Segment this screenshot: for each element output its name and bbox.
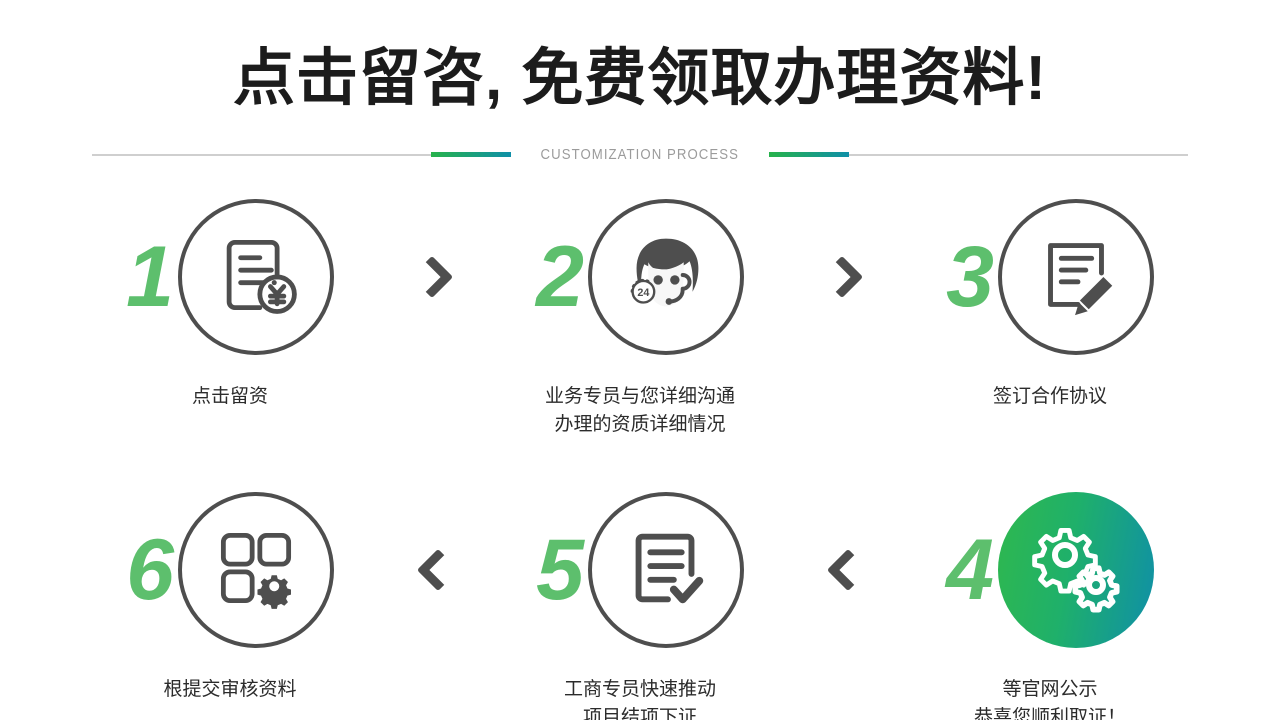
step-5-number: 5: [536, 527, 582, 613]
step-2-circle: 24: [588, 199, 744, 355]
chevron-left-icon-1: [395, 482, 475, 658]
step-1-number: 1: [126, 234, 172, 320]
steps-row-top: 1: [0, 189, 1280, 438]
step-1-label: 点击留资: [192, 383, 268, 411]
step-5-circle: [588, 492, 744, 648]
step-5-visual: 5: [536, 482, 744, 658]
step-3-label: 签订合作协议: [993, 383, 1107, 411]
step-1-visual: 1: [126, 189, 334, 365]
customer-service-agent-icon: 24: [612, 221, 720, 334]
step-3[interactable]: 3: [885, 189, 1215, 411]
step-6-label: 根提交审核资料: [163, 676, 296, 704]
grid-gear-icon: [208, 520, 304, 621]
step-3-circle: [998, 199, 1154, 355]
divider-accent-right: [769, 152, 849, 157]
gears-icon: [1021, 513, 1131, 628]
divider-line-right: [849, 154, 1188, 156]
step-1-circle: [178, 199, 334, 355]
divider-caption: CUSTOMIZATION PROCESS: [527, 146, 754, 163]
step-6-number: 6: [126, 527, 172, 613]
step-1[interactable]: 1: [65, 189, 395, 411]
step-2-visual: 2: [536, 189, 744, 365]
step-4-number: 4: [946, 527, 992, 613]
step-2-badge-text: 24: [637, 287, 649, 299]
steps-container: 1: [0, 189, 1280, 720]
chevron-right-icon-1: [395, 189, 475, 365]
section-divider: CUSTOMIZATION PROCESS: [0, 146, 1280, 163]
process-infographic: 点击留咨, 免费领取办理资料! CUSTOMIZATION PROCESS 1: [0, 0, 1280, 720]
step-3-number: 3: [946, 234, 992, 320]
document-check-icon: [617, 519, 715, 622]
step-2-label: 业务专员与您详细沟通 办理的资质详细情况: [545, 383, 735, 438]
chevron-left-icon-2: [805, 482, 885, 658]
step-6[interactable]: 6: [65, 482, 395, 704]
step-5-label: 工商专员快速推动 项目结项下证: [564, 676, 716, 720]
step-5[interactable]: 5 工商专员快速推动 项目结项下证: [475, 482, 805, 720]
step-2[interactable]: 2: [475, 189, 805, 438]
step-4-circle: [998, 492, 1154, 648]
page-title: 点击留咨, 免费领取办理资料!: [0, 0, 1280, 110]
chevron-right-icon-2: [805, 189, 885, 365]
step-6-circle: [178, 492, 334, 648]
step-6-visual: 6: [126, 482, 334, 658]
document-yen-icon: [208, 227, 304, 328]
divider-accent-left: [431, 152, 511, 157]
step-4[interactable]: 4: [885, 482, 1215, 720]
divider-line-left: [92, 154, 431, 156]
document-pencil-icon: [1027, 226, 1125, 329]
step-3-visual: 3: [946, 189, 1154, 365]
step-4-label: 等官网公示 恭喜您顺利取证！: [974, 676, 1126, 720]
step-4-visual: 4: [946, 482, 1154, 658]
steps-row-bottom: 6: [0, 482, 1280, 720]
step-2-number: 2: [536, 234, 582, 320]
